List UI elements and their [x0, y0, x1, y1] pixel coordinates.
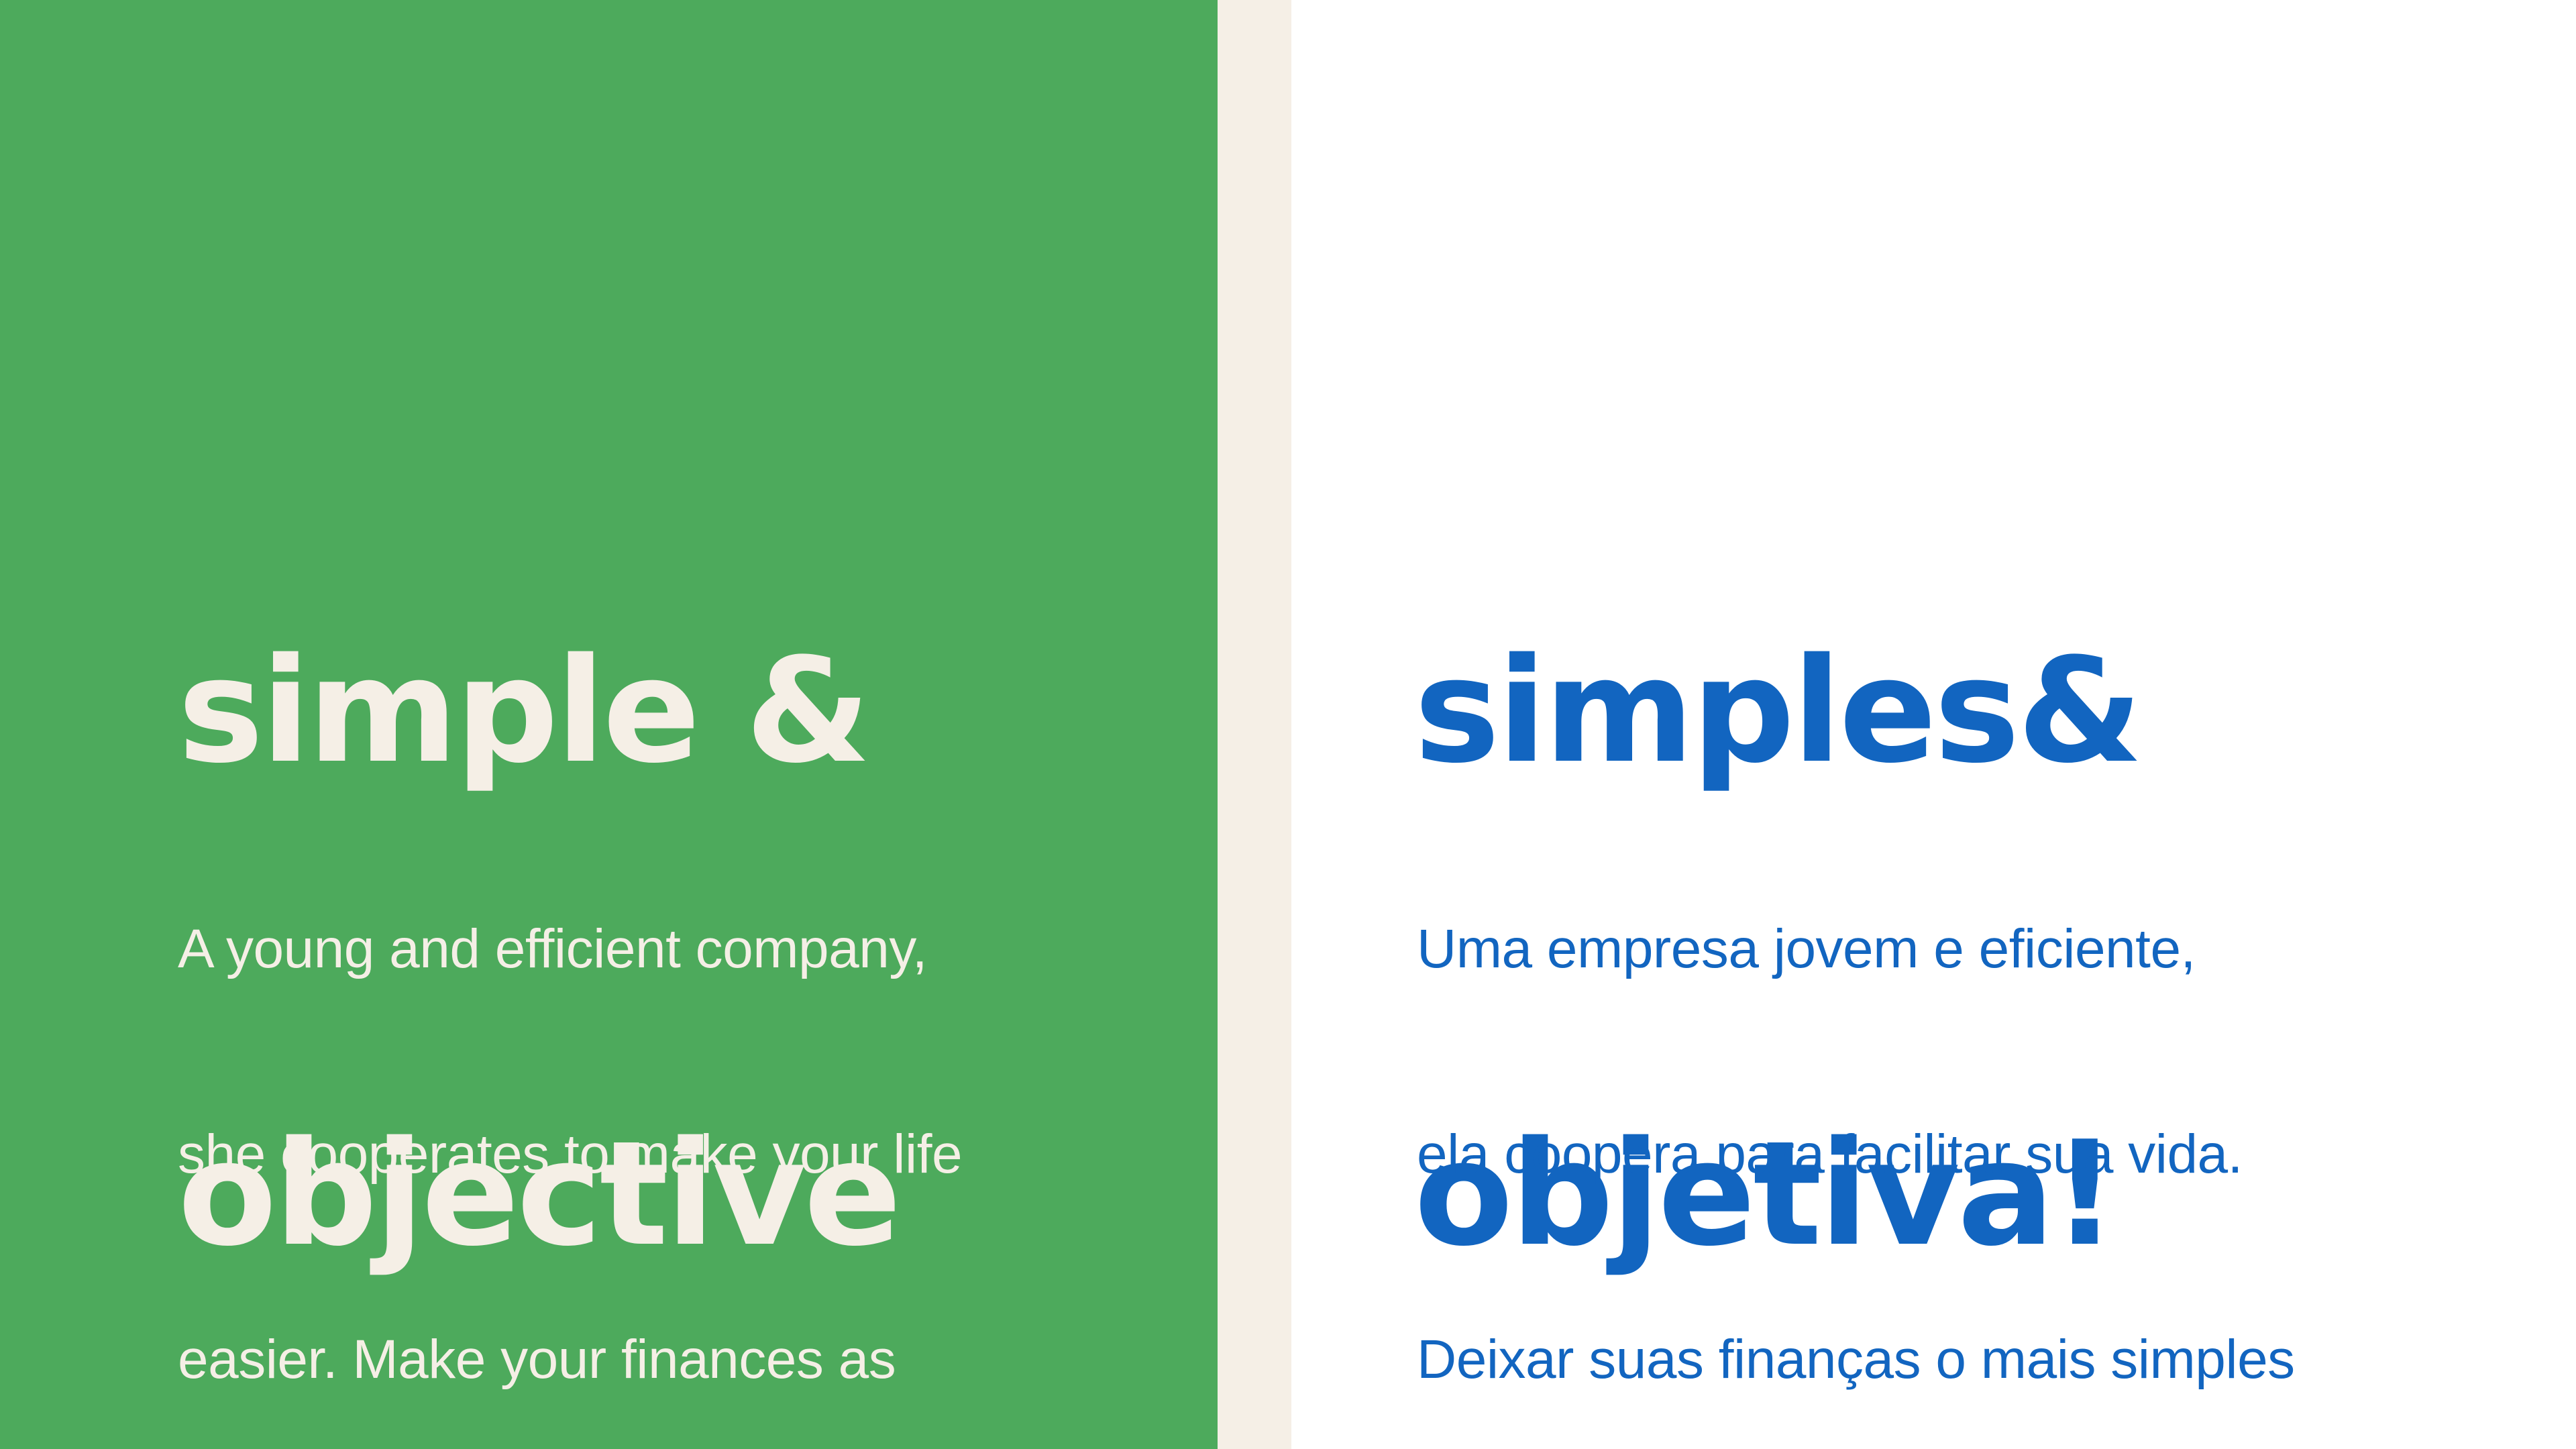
english-headline-line-1: simple & [178, 631, 899, 792]
portuguese-body-line-3: Deixar suas finanças o mais simples [1417, 1326, 2295, 1394]
portuguese-headline-line-1: simples& [1414, 631, 2141, 792]
cream-divider-strip [1218, 0, 1291, 1449]
portuguese-body-line-2: ela coopera para facilitar sua vida. [1417, 1120, 2295, 1189]
english-body-line-2: she cooperates to make your life [178, 1120, 962, 1189]
portuguese-body-text: Uma empresa jovem e eficiente, ela coope… [1417, 778, 2295, 1449]
english-body-line-1: A young and efficient company, [178, 915, 962, 983]
slide-canvas: simple & objective A young and efficient… [0, 0, 2576, 1449]
portuguese-body-line-1: Uma empresa jovem e eficiente, [1417, 915, 2295, 983]
english-body-text: A young and efficient company, she coope… [178, 778, 962, 1449]
english-body-line-3: easier. Make your finances as [178, 1326, 962, 1394]
